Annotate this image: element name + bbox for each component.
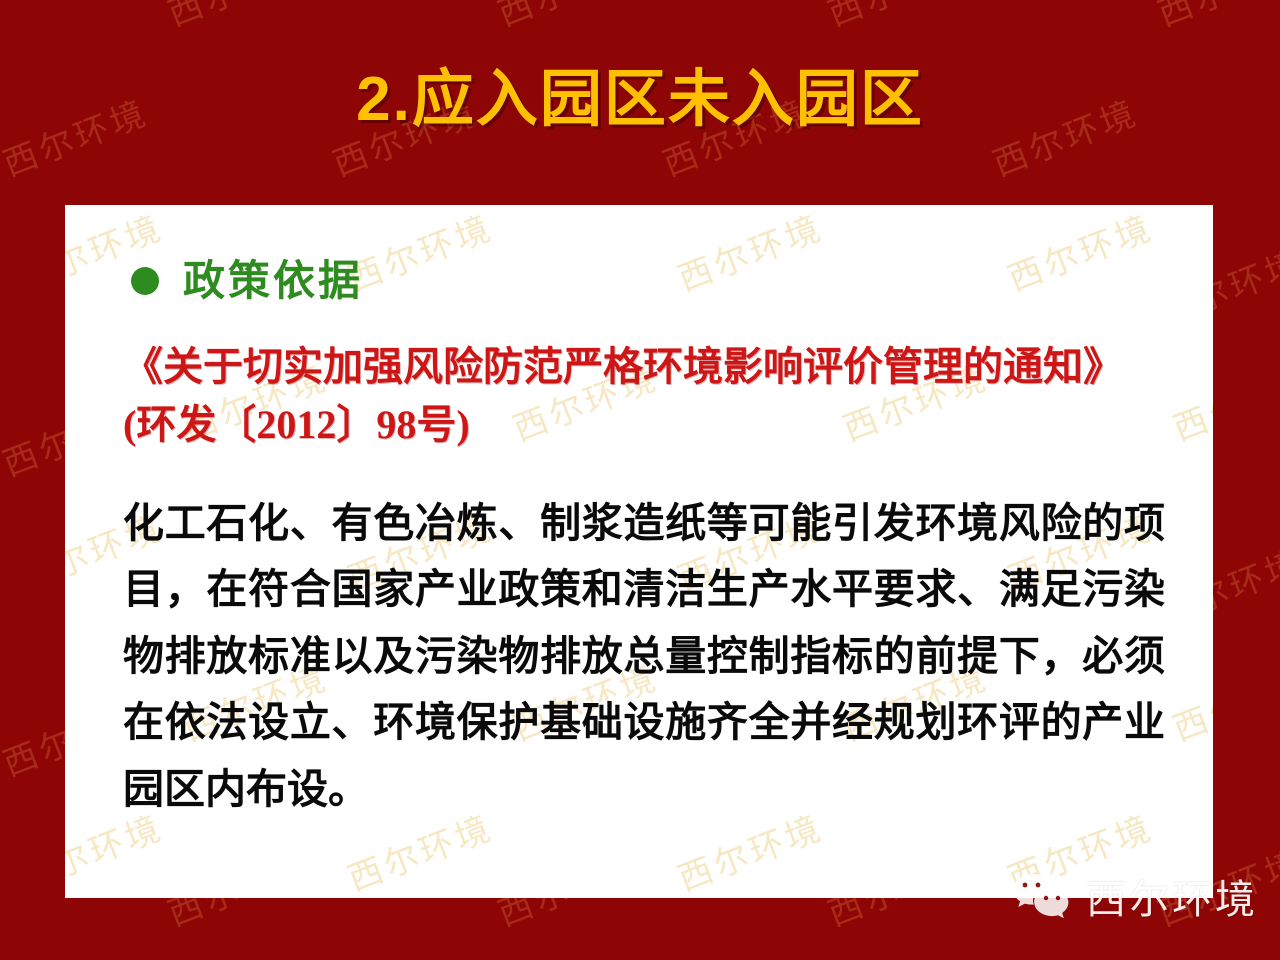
brand-name-label: 西尔环境 bbox=[1086, 867, 1258, 925]
policy-body-paragraph: 化工石化、有色冶炼、制浆造纸等可能引发环境风险的项目，在符合国家产业政策和清洁生… bbox=[123, 490, 1165, 822]
wechat-icon bbox=[1010, 872, 1072, 920]
slide-title-bar: 2.应入园区未入园区 bbox=[0, 0, 1280, 200]
page-title: 2.应入园区未入园区 bbox=[356, 69, 924, 131]
wechat-brand-logo: 西尔环境 bbox=[1010, 867, 1258, 925]
content-panel: 西尔环境西尔环境西尔环境西尔环境西尔环境西尔环境西尔环境西尔环境西尔环境西尔环境… bbox=[65, 205, 1213, 898]
policy-document-citation: 《关于切实加强风险防范严格环境影响评价管理的通知》(环发〔2012〕98号) bbox=[123, 338, 1165, 454]
content-body: 政策依据 《关于切实加强风险防范严格环境影响评价管理的通知》(环发〔2012〕9… bbox=[65, 205, 1213, 822]
slide-canvas: 西尔环境西尔环境西尔环境西尔环境西尔环境西尔环境西尔环境西尔环境西尔环境西尔环境… bbox=[0, 0, 1280, 960]
bullet-heading-label: 政策依据 bbox=[183, 260, 363, 302]
bullet-dot-icon bbox=[131, 267, 159, 295]
bullet-heading: 政策依据 bbox=[123, 260, 1165, 302]
